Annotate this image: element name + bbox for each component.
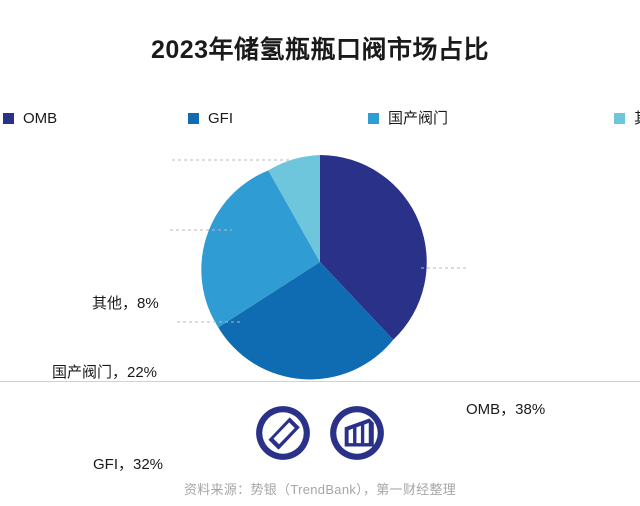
footer-divider	[0, 381, 640, 382]
legend-swatch-omb	[3, 113, 14, 124]
legend-swatch-gfi	[188, 113, 199, 124]
trendbank-diamond-logo	[255, 405, 311, 461]
pie-chart: 其他，8% 国产阀门，22% GFI，32% OMB，38%	[0, 140, 640, 385]
legend-label-gfi: GFI	[208, 111, 233, 126]
legend-item-domestic-valve[interactable]: 国产阀门	[368, 106, 448, 130]
legend-label-omb: OMB	[23, 111, 57, 126]
footer-logos	[0, 405, 640, 461]
legend-label-domestic-valve: 国产阀门	[388, 111, 448, 126]
callout-other: 其他，8%	[92, 292, 159, 313]
yicai-bars-logo	[329, 405, 385, 461]
callout-domestic-valve: 国产阀门，22%	[52, 361, 157, 382]
pie-chart-svg	[0, 140, 640, 385]
legend-swatch-other	[614, 113, 625, 124]
legend-swatch-domestic-valve	[368, 113, 379, 124]
chart-legend: OMB GFI 国产阀门 其他	[0, 106, 640, 130]
page-title: 2023年储氢瓶瓶口阀市场占比	[0, 30, 640, 66]
legend-item-gfi[interactable]: GFI	[188, 106, 233, 130]
legend-item-other[interactable]: 其他	[614, 106, 640, 130]
source-note: 资料来源：势银（TrendBank），第一财经整理	[0, 479, 640, 498]
legend-label-other: 其他	[634, 111, 640, 126]
legend-item-omb[interactable]: OMB	[3, 106, 57, 130]
